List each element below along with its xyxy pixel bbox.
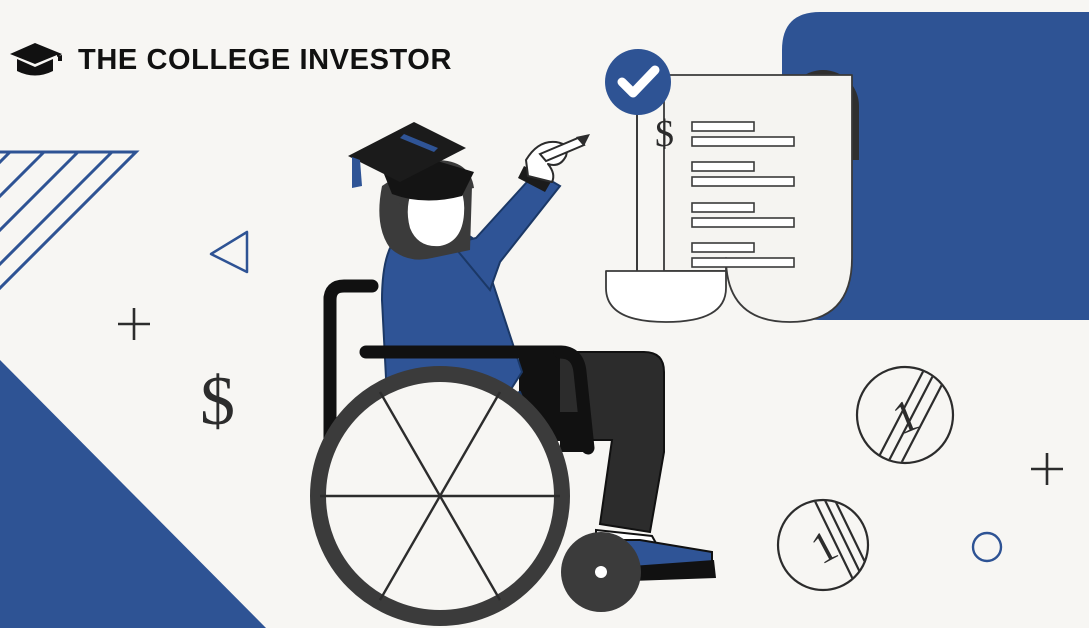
brand-wordmark: THE COLLEGE INVESTOR — [78, 46, 452, 75]
graduate-in-wheelchair-illustration — [0, 0, 1089, 628]
brand-lockup[interactable]: THE COLLEGE INVESTOR — [8, 40, 452, 80]
frame-joint — [560, 412, 588, 452]
illustration-canvas: $ $ — [0, 0, 1089, 628]
graduation-cap — [348, 122, 474, 201]
graduation-cap-icon — [8, 40, 64, 80]
caster-wheel — [561, 532, 641, 612]
main-wheel — [318, 374, 562, 618]
caster-hub — [595, 566, 607, 578]
